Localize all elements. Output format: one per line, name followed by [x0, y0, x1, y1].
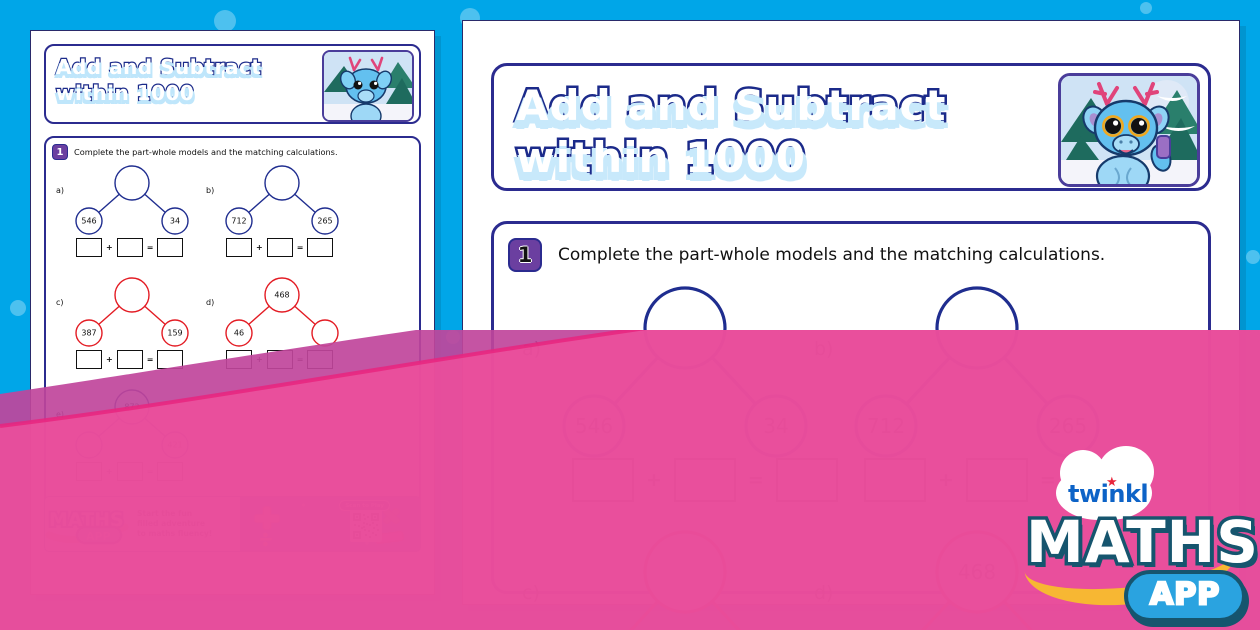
answer-box[interactable]	[864, 458, 926, 502]
plus-operator: +	[646, 469, 662, 491]
calculation-row: + =	[76, 238, 183, 257]
decor-bubble	[1246, 250, 1260, 264]
item-letter: b)	[206, 186, 214, 195]
answer-box[interactable]	[267, 238, 293, 257]
calculation-row: + =	[76, 462, 183, 481]
main-question-header: 1 Complete the part-whole models and the…	[508, 238, 1105, 272]
question-number-badge: 1	[52, 144, 68, 160]
screenshot-stage: Add and Subtract within 1000	[0, 0, 1260, 630]
svg-text:265: 265	[317, 217, 332, 226]
equals-operator: =	[748, 469, 764, 491]
answer-box[interactable]	[157, 462, 183, 481]
svg-text:34: 34	[170, 217, 180, 226]
plus-operator: +	[106, 467, 113, 476]
plus-operator: +	[106, 355, 113, 364]
part-whole-model: 54634	[72, 164, 192, 236]
plus-operator: +	[256, 355, 263, 364]
promo-tagline: Start the fun filled adventure to maths …	[137, 509, 212, 539]
qr-code-icon[interactable]	[350, 510, 382, 542]
item-letter: d)	[814, 582, 833, 604]
equals-operator: =	[147, 467, 154, 476]
decor-bubble	[446, 330, 460, 344]
decor-bubble	[214, 10, 236, 32]
answer-box[interactable]	[966, 458, 1028, 502]
equals-operator: =	[147, 243, 154, 252]
answer-box[interactable]	[572, 458, 634, 502]
svg-text:159: 159	[167, 329, 182, 338]
svg-text:468: 468	[274, 291, 289, 300]
plus-operator: +	[256, 243, 263, 252]
promo-right: Scan to Play	[240, 497, 420, 551]
question-instruction: Complete the part-whole models and the m…	[74, 147, 338, 157]
svg-text:265: 265	[1049, 414, 1087, 438]
main-title-banner: Add and Subtract within 1000	[491, 63, 1211, 191]
svg-text:546: 546	[81, 217, 96, 226]
answer-box[interactable]	[307, 350, 333, 369]
preview-title: Add and Subtract within 1000	[56, 54, 326, 106]
main-title: Add and Subtract within 1000	[516, 80, 1056, 184]
part-whole-item: c) 387159 + =	[54, 276, 204, 381]
svg-text:546: 546	[575, 414, 613, 438]
item-letter: c)	[522, 582, 540, 604]
answer-box[interactable]	[117, 350, 143, 369]
part-whole-item: b) 712265 + =	[204, 164, 354, 269]
equals-operator: =	[147, 355, 154, 364]
reindeer-mascot-icon	[1058, 73, 1200, 187]
promo-decor	[240, 497, 420, 551]
svg-text:712: 712	[231, 217, 246, 226]
twinkl-maths-app-logo[interactable]: ★ twinkl MATHS APP	[1020, 466, 1252, 630]
answer-box[interactable]	[307, 238, 333, 257]
calculation-row: + =	[572, 458, 838, 502]
decor-bubble	[1140, 2, 1152, 14]
part-whole-model: 872421	[72, 388, 192, 460]
app-pill: APP	[1124, 570, 1246, 622]
part-whole-item: c) 387159 + =	[512, 530, 842, 630]
reindeer-mascot-icon	[322, 50, 414, 122]
answer-box[interactable]	[226, 238, 252, 257]
item-letter: c)	[56, 298, 64, 307]
part-whole-model: 387159	[560, 530, 810, 630]
svg-text:34: 34	[763, 414, 788, 438]
question-number-badge: 1	[508, 238, 542, 272]
star-icon: ★	[1106, 474, 1118, 490]
part-whole-model: 46846	[222, 276, 342, 348]
item-letter: a)	[522, 338, 541, 360]
equals-operator: =	[297, 243, 304, 252]
answer-box[interactable]	[76, 350, 102, 369]
answer-box[interactable]	[157, 238, 183, 257]
maths-app-promo-banner[interactable]: MATHS APP Start the fun filled adventure…	[44, 496, 421, 552]
item-letter: d)	[206, 298, 214, 307]
item-letter: a)	[56, 186, 64, 195]
part-whole-item: e) 872421 + =	[54, 388, 204, 493]
svg-text:421: 421	[167, 441, 182, 450]
answer-box[interactable]	[157, 350, 183, 369]
answer-box[interactable]	[76, 238, 102, 257]
part-whole-model: 712265	[222, 164, 342, 236]
plus-operator: +	[938, 469, 954, 491]
svg-text:APP: APP	[86, 530, 111, 543]
part-whole-model: 712265	[852, 286, 1102, 458]
decor-bubble	[10, 300, 26, 316]
svg-text:387: 387	[81, 329, 96, 338]
plus-operator: +	[106, 243, 113, 252]
calculation-row: + =	[226, 238, 333, 257]
promo-left: MATHS APP Start the fun filled adventure…	[45, 497, 240, 551]
answer-box[interactable]	[674, 458, 736, 502]
app-wordmark: APP	[1150, 577, 1220, 612]
answer-box[interactable]	[267, 350, 293, 369]
equals-operator: =	[297, 355, 304, 364]
question-instruction: Complete the part-whole models and the m…	[558, 245, 1105, 265]
preview-footer	[45, 560, 420, 580]
answer-box[interactable]	[226, 350, 252, 369]
preview-question-panel: 1 Complete the part-whole models and the…	[44, 136, 421, 508]
calculation-row: + =	[226, 350, 333, 369]
part-whole-item: d) 46846 + =	[204, 276, 354, 381]
maths-app-logo-icon: MATHS APP	[45, 499, 131, 549]
answer-box[interactable]	[76, 462, 102, 481]
svg-text:46: 46	[234, 329, 244, 338]
preview-title-banner: Add and Subtract within 1000	[44, 44, 421, 124]
part-whole-model: 54634	[560, 286, 810, 458]
preview-question-header: 1 Complete the part-whole models and the…	[52, 144, 413, 160]
part-whole-item: a) 54634 + =	[54, 164, 204, 269]
calculation-row: + =	[76, 350, 183, 369]
item-letter: e)	[56, 410, 64, 419]
answer-box[interactable]	[117, 462, 143, 481]
svg-text:468: 468	[958, 560, 996, 584]
part-whole-model: 387159	[72, 276, 192, 348]
part-whole-item: a) 54634 + =	[512, 286, 842, 526]
svg-text:872: 872	[124, 403, 139, 412]
preview-models-grid: a) 54634 + = b) 712265 + = c)	[46, 164, 419, 502]
worksheet-page-preview[interactable]: Add and Subtract within 1000	[30, 30, 435, 595]
item-letter: b)	[814, 338, 833, 360]
svg-text:712: 712	[867, 414, 905, 438]
answer-box[interactable]	[117, 238, 143, 257]
maths-wordmark: MATHS	[1026, 508, 1259, 576]
